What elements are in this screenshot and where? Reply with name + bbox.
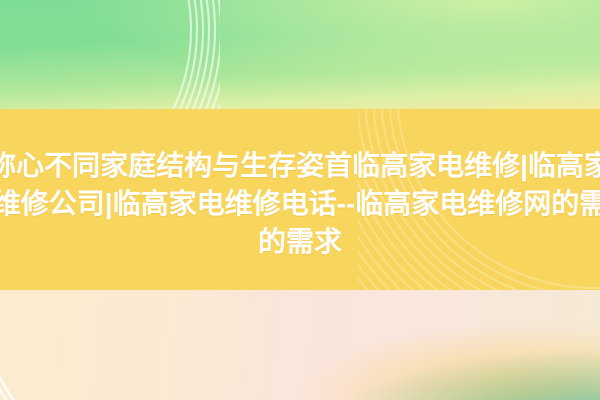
yellow-band-arc-lines-decoration [358, 109, 600, 290]
middle-yellow-band [0, 109, 600, 290]
top-left-arc-lines-decoration [0, 0, 220, 109]
bottom-cream-panel [0, 290, 600, 400]
top-green-panel [0, 0, 600, 109]
bottom-right-arc-lines-decoration [0, 290, 600, 400]
banner-image: 称心不同家庭结构与生存姿首临高家电维修|临高家 电维修公司|临高家电维修电话--… [0, 0, 600, 400]
